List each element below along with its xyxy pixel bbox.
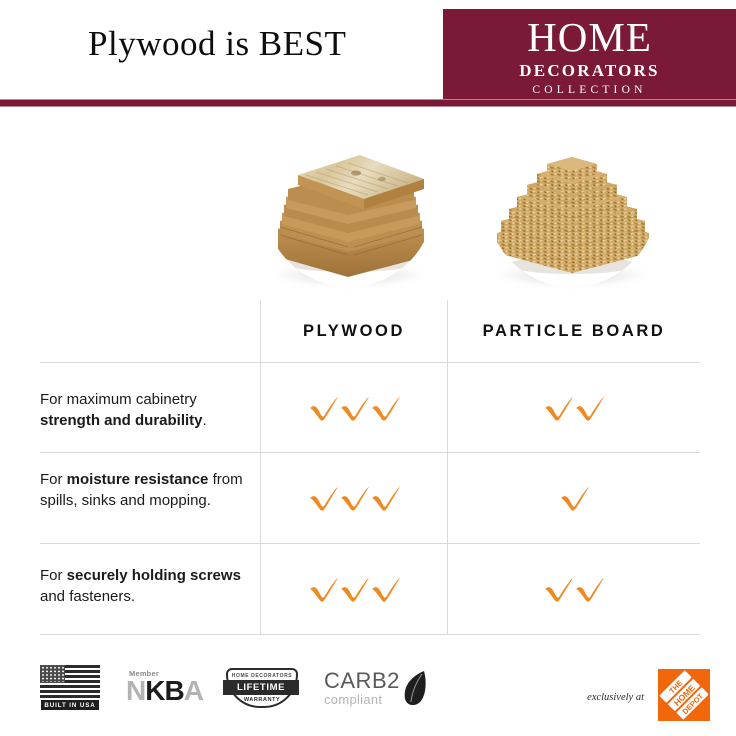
row3-text-a: For xyxy=(40,567,67,584)
check-icon xyxy=(307,573,340,603)
brand-logo: HOME DECORATORS COLLECTION xyxy=(443,9,736,105)
row3-plywood-checks xyxy=(260,573,448,603)
row1-text-a: For maximum cabinetry xyxy=(40,391,197,408)
home-depot-logo: THE HOME DEPOT xyxy=(658,669,710,721)
row3-text-bold: securely holding screws xyxy=(67,567,241,584)
row3-particle-checks xyxy=(448,573,700,603)
table-row-label-1: For maximum cabinetry strength and durab… xyxy=(40,389,245,431)
nkba-letter-a: A xyxy=(184,675,203,706)
nkba-letter-kb: KB xyxy=(145,675,183,706)
column-header-particle-board: PARTICLE BOARD xyxy=(448,322,700,341)
check-icon xyxy=(573,573,606,603)
header-divider-bar xyxy=(0,99,736,107)
table-row-label-2: For moisture resistance from spills, sin… xyxy=(40,469,245,511)
check-icon xyxy=(338,573,371,603)
leaf-icon xyxy=(402,669,428,707)
check-icon xyxy=(573,392,606,422)
row2-particle-checks xyxy=(448,482,700,512)
column-header-plywood: PLYWOOD xyxy=(260,322,448,341)
table-hline-row2 xyxy=(40,543,700,544)
infographic-page: Plywood is BEST HOME DECORATORS COLLECTI… xyxy=(0,0,736,736)
nkba-member-badge: Member NKBA xyxy=(126,669,200,707)
table-hline-row3 xyxy=(40,634,700,635)
warranty-top-label: HOME DECORATORS xyxy=(232,673,292,679)
carb2-label: CARB2 xyxy=(324,670,400,692)
table-hline-header xyxy=(40,362,700,363)
row1-text-bold: strength and durability xyxy=(40,412,203,429)
footer: BUILT IN USA Member NKBA HOME DECORATORS… xyxy=(0,655,736,736)
header: Plywood is BEST HOME DECORATORS COLLECTI… xyxy=(0,0,736,108)
particle-board-stack-photo xyxy=(487,117,657,287)
brand-logo-decorators: DECORATORS xyxy=(519,60,659,81)
row1-text-b: . xyxy=(203,412,207,429)
row2-text-bold: moisture resistance xyxy=(67,471,209,488)
check-icon xyxy=(558,482,591,512)
product-photos xyxy=(0,112,736,297)
built-in-usa-badge: BUILT IN USA xyxy=(40,665,100,710)
row3-text-b: and fasteners. xyxy=(40,588,135,605)
row1-plywood-checks xyxy=(260,392,448,422)
lifetime-warranty-badge: HOME DECORATORS LIFETIME WARRANTY xyxy=(226,668,298,708)
check-icon xyxy=(369,392,402,422)
nkba-letters: NKBA xyxy=(126,677,203,705)
check-icon xyxy=(542,573,575,603)
check-icon xyxy=(542,392,575,422)
nkba-letter-n: N xyxy=(126,675,145,706)
table-row-label-3: For securely holding screws and fastener… xyxy=(40,565,245,607)
exclusively-at-label: exclusively at xyxy=(587,692,644,703)
table-hline-row1 xyxy=(40,452,700,453)
warranty-band-label: LIFETIME xyxy=(223,680,299,695)
brand-logo-home: HOME xyxy=(527,18,652,57)
row2-text-a: For xyxy=(40,471,67,488)
check-icon xyxy=(338,482,371,512)
brand-logo-collection: COLLECTION xyxy=(532,84,646,98)
usa-flag-icon xyxy=(40,665,100,698)
check-icon xyxy=(369,482,402,512)
carb2-compliant-label: compliant xyxy=(324,693,400,706)
certification-badges: BUILT IN USA Member NKBA HOME DECORATORS… xyxy=(40,665,428,710)
built-in-usa-label: BUILT IN USA xyxy=(41,700,98,710)
check-icon xyxy=(338,392,371,422)
check-icon xyxy=(307,482,340,512)
carb2-compliant-badge: CARB2 compliant xyxy=(324,669,428,707)
row1-particle-checks xyxy=(448,392,700,422)
row2-plywood-checks xyxy=(260,482,448,512)
check-icon xyxy=(369,573,402,603)
plywood-stack-photo xyxy=(264,117,434,287)
page-title: Plywood is BEST xyxy=(88,24,346,64)
check-icon xyxy=(307,392,340,422)
